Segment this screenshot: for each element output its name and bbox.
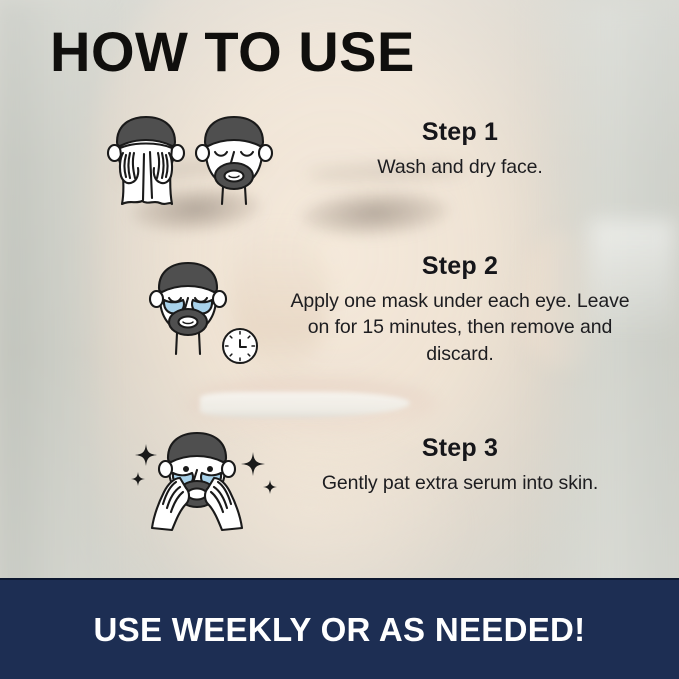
- face-clean-dry-icon: [196, 117, 272, 204]
- step-2-description: Apply one mask under each eye. Leave on …: [290, 288, 630, 367]
- step-2-block: Step 2 Apply one mask under each eye. Le…: [290, 252, 630, 367]
- face-wiping-with-towel-icon: [108, 117, 184, 204]
- how-to-use-poster: HOW TO USE: [0, 0, 679, 679]
- step-2-title: Step 2: [290, 252, 630, 281]
- step-1-icon-group: [96, 108, 282, 208]
- page-title: HOW TO USE: [50, 23, 415, 82]
- clock-icon: [223, 329, 257, 363]
- step-2-icon-group: [146, 258, 266, 370]
- footer-text: USE WEEKLY OR AS NEEDED!: [94, 611, 586, 649]
- step-1-description: Wash and dry face.: [290, 154, 630, 180]
- step-3-title: Step 3: [290, 434, 630, 463]
- step-3-block: Step 3 Gently pat extra serum into skin.: [290, 434, 630, 496]
- step-1-block: Step 1 Wash and dry face.: [290, 118, 630, 180]
- face-with-eye-masks-icon: [150, 263, 226, 354]
- step-3-description: Gently pat extra serum into skin.: [290, 470, 630, 496]
- footer-band: USE WEEKLY OR AS NEEDED!: [0, 578, 679, 679]
- step-3-icon-group: [124, 428, 282, 540]
- step-1-title: Step 1: [290, 118, 630, 147]
- hands-patting-eye-masks-icon: [152, 433, 242, 530]
